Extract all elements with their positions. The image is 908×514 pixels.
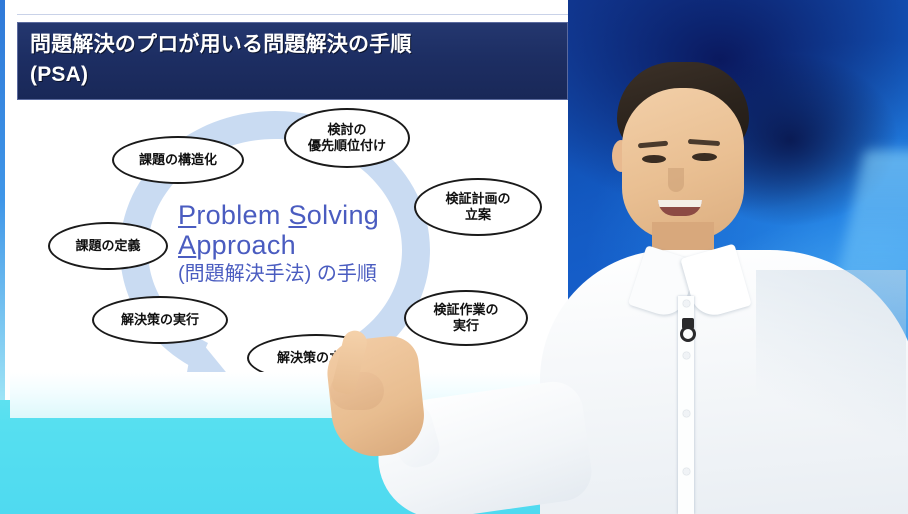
shirt-button (683, 300, 690, 307)
psa-cycle-diagram: Problem Solving Approach (問題解決手法) の手順 課題… (10, 100, 573, 400)
slide-title-line-1: 問題解決のプロが用いる問題解決の手順 (30, 30, 567, 60)
presenter-eye-right (692, 153, 717, 161)
presenter-shoulder-shadow (756, 270, 906, 514)
shirt-button (683, 352, 690, 359)
bubble-verify-plan[interactable]: 検証計画の 立案 (414, 178, 542, 236)
center-heading-line-2: Approach (178, 230, 478, 260)
presenter-eye-left (642, 155, 666, 163)
center-heading-line-3: (問題解決手法) の手順 (178, 261, 478, 287)
presentation-slide: 問題解決のプロが用いる問題解決の手順 (PSA) Problem Solving (5, 0, 568, 400)
shirt-button (683, 410, 690, 417)
bubble-priority[interactable]: 検討の 優先順位付け (284, 108, 410, 168)
title-top-rule (17, 14, 568, 20)
video-frame: 問題解決のプロが用いる問題解決の手順 (PSA) Problem Solving (0, 0, 908, 514)
bubble-definition[interactable]: 課題の定義 (48, 222, 168, 270)
lapel-microphone-clip (680, 326, 696, 342)
presenter (560, 0, 908, 514)
presenter-face (622, 88, 744, 240)
presenter-teeth (658, 200, 702, 207)
bubble-verify-work[interactable]: 検証作業の 実行 (404, 290, 528, 346)
slide-title-line-2: (PSA) (30, 60, 567, 90)
slide-title-bar: 問題解決のプロが用いる問題解決の手順 (PSA) (17, 22, 568, 100)
presenter-nose (668, 168, 684, 192)
bubble-execute[interactable]: 解決策の実行 (92, 296, 228, 344)
shirt-button (683, 468, 690, 475)
bubble-structure[interactable]: 課題の構造化 (112, 136, 244, 184)
